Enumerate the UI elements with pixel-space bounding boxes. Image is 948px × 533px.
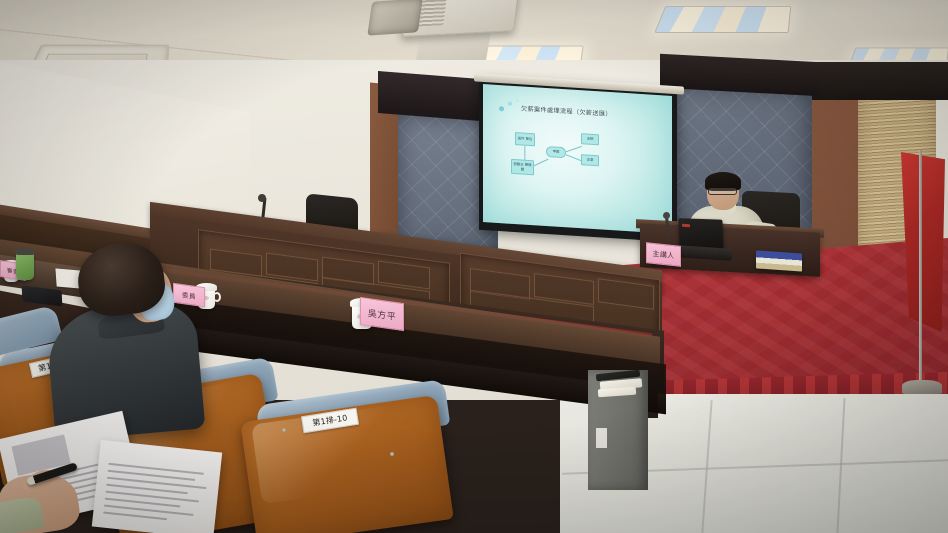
slide-connector <box>525 146 526 160</box>
slide-decoration-dot <box>499 106 504 111</box>
conference-room-photo: 欠薪案件處理流程（欠薪送匯） 送件 單位 勞動主 管機關 申報 法院 注意 主講… <box>0 0 948 533</box>
document-text-line <box>103 512 167 520</box>
slide-connector <box>566 154 582 161</box>
seat-number-text: 第1排-10 <box>312 412 349 428</box>
slide-diagram-box: 勞動主 管機關 <box>511 159 534 175</box>
slide-decoration-dot <box>516 99 519 102</box>
slide-connector <box>566 146 582 152</box>
microphone-icon <box>258 194 266 202</box>
placard-label: 吳方平 <box>368 305 397 322</box>
ceiling-light-panel <box>654 6 791 33</box>
travel-mug-lid <box>15 248 35 255</box>
placard-label: 委員 <box>182 289 196 301</box>
slide-diagram-box: 注意 <box>581 154 599 166</box>
name-placard: 委員 <box>173 283 205 307</box>
microphone-icon <box>663 212 670 219</box>
cabinet-label <box>596 428 607 448</box>
slide-decoration-dot <box>508 102 512 106</box>
teacup-handle <box>213 292 221 302</box>
name-placard: 吳方平 <box>360 297 404 331</box>
placard-label: 主講人 <box>653 248 675 260</box>
slide-title: 欠薪案件處理流程（欠薪送匯） <box>521 103 666 121</box>
projection-screen: 欠薪案件處理流程（欠薪送匯） 送件 單位 勞動主 管機關 申報 法院 注意 <box>483 84 672 234</box>
flag-stand <box>902 380 942 394</box>
glasses-icon <box>708 188 737 195</box>
slide-diagram-box: 申報 <box>546 146 566 158</box>
slide-diagram-box: 法院 <box>581 133 599 145</box>
curtain-valance-right <box>808 62 948 100</box>
projector-lens <box>367 0 422 36</box>
book-stack <box>756 250 802 271</box>
travel-mug <box>16 252 34 280</box>
seat-screw <box>390 452 394 456</box>
laptop-logo <box>682 224 690 228</box>
flag-pole <box>919 150 922 385</box>
slide-connector <box>534 159 548 166</box>
document-page-right <box>92 440 222 533</box>
name-placard-speaker: 主講人 <box>646 242 681 267</box>
seat-screw <box>282 428 286 432</box>
attendee-sleeve <box>0 495 44 533</box>
slide-diagram-box: 送件 單位 <box>515 132 535 146</box>
